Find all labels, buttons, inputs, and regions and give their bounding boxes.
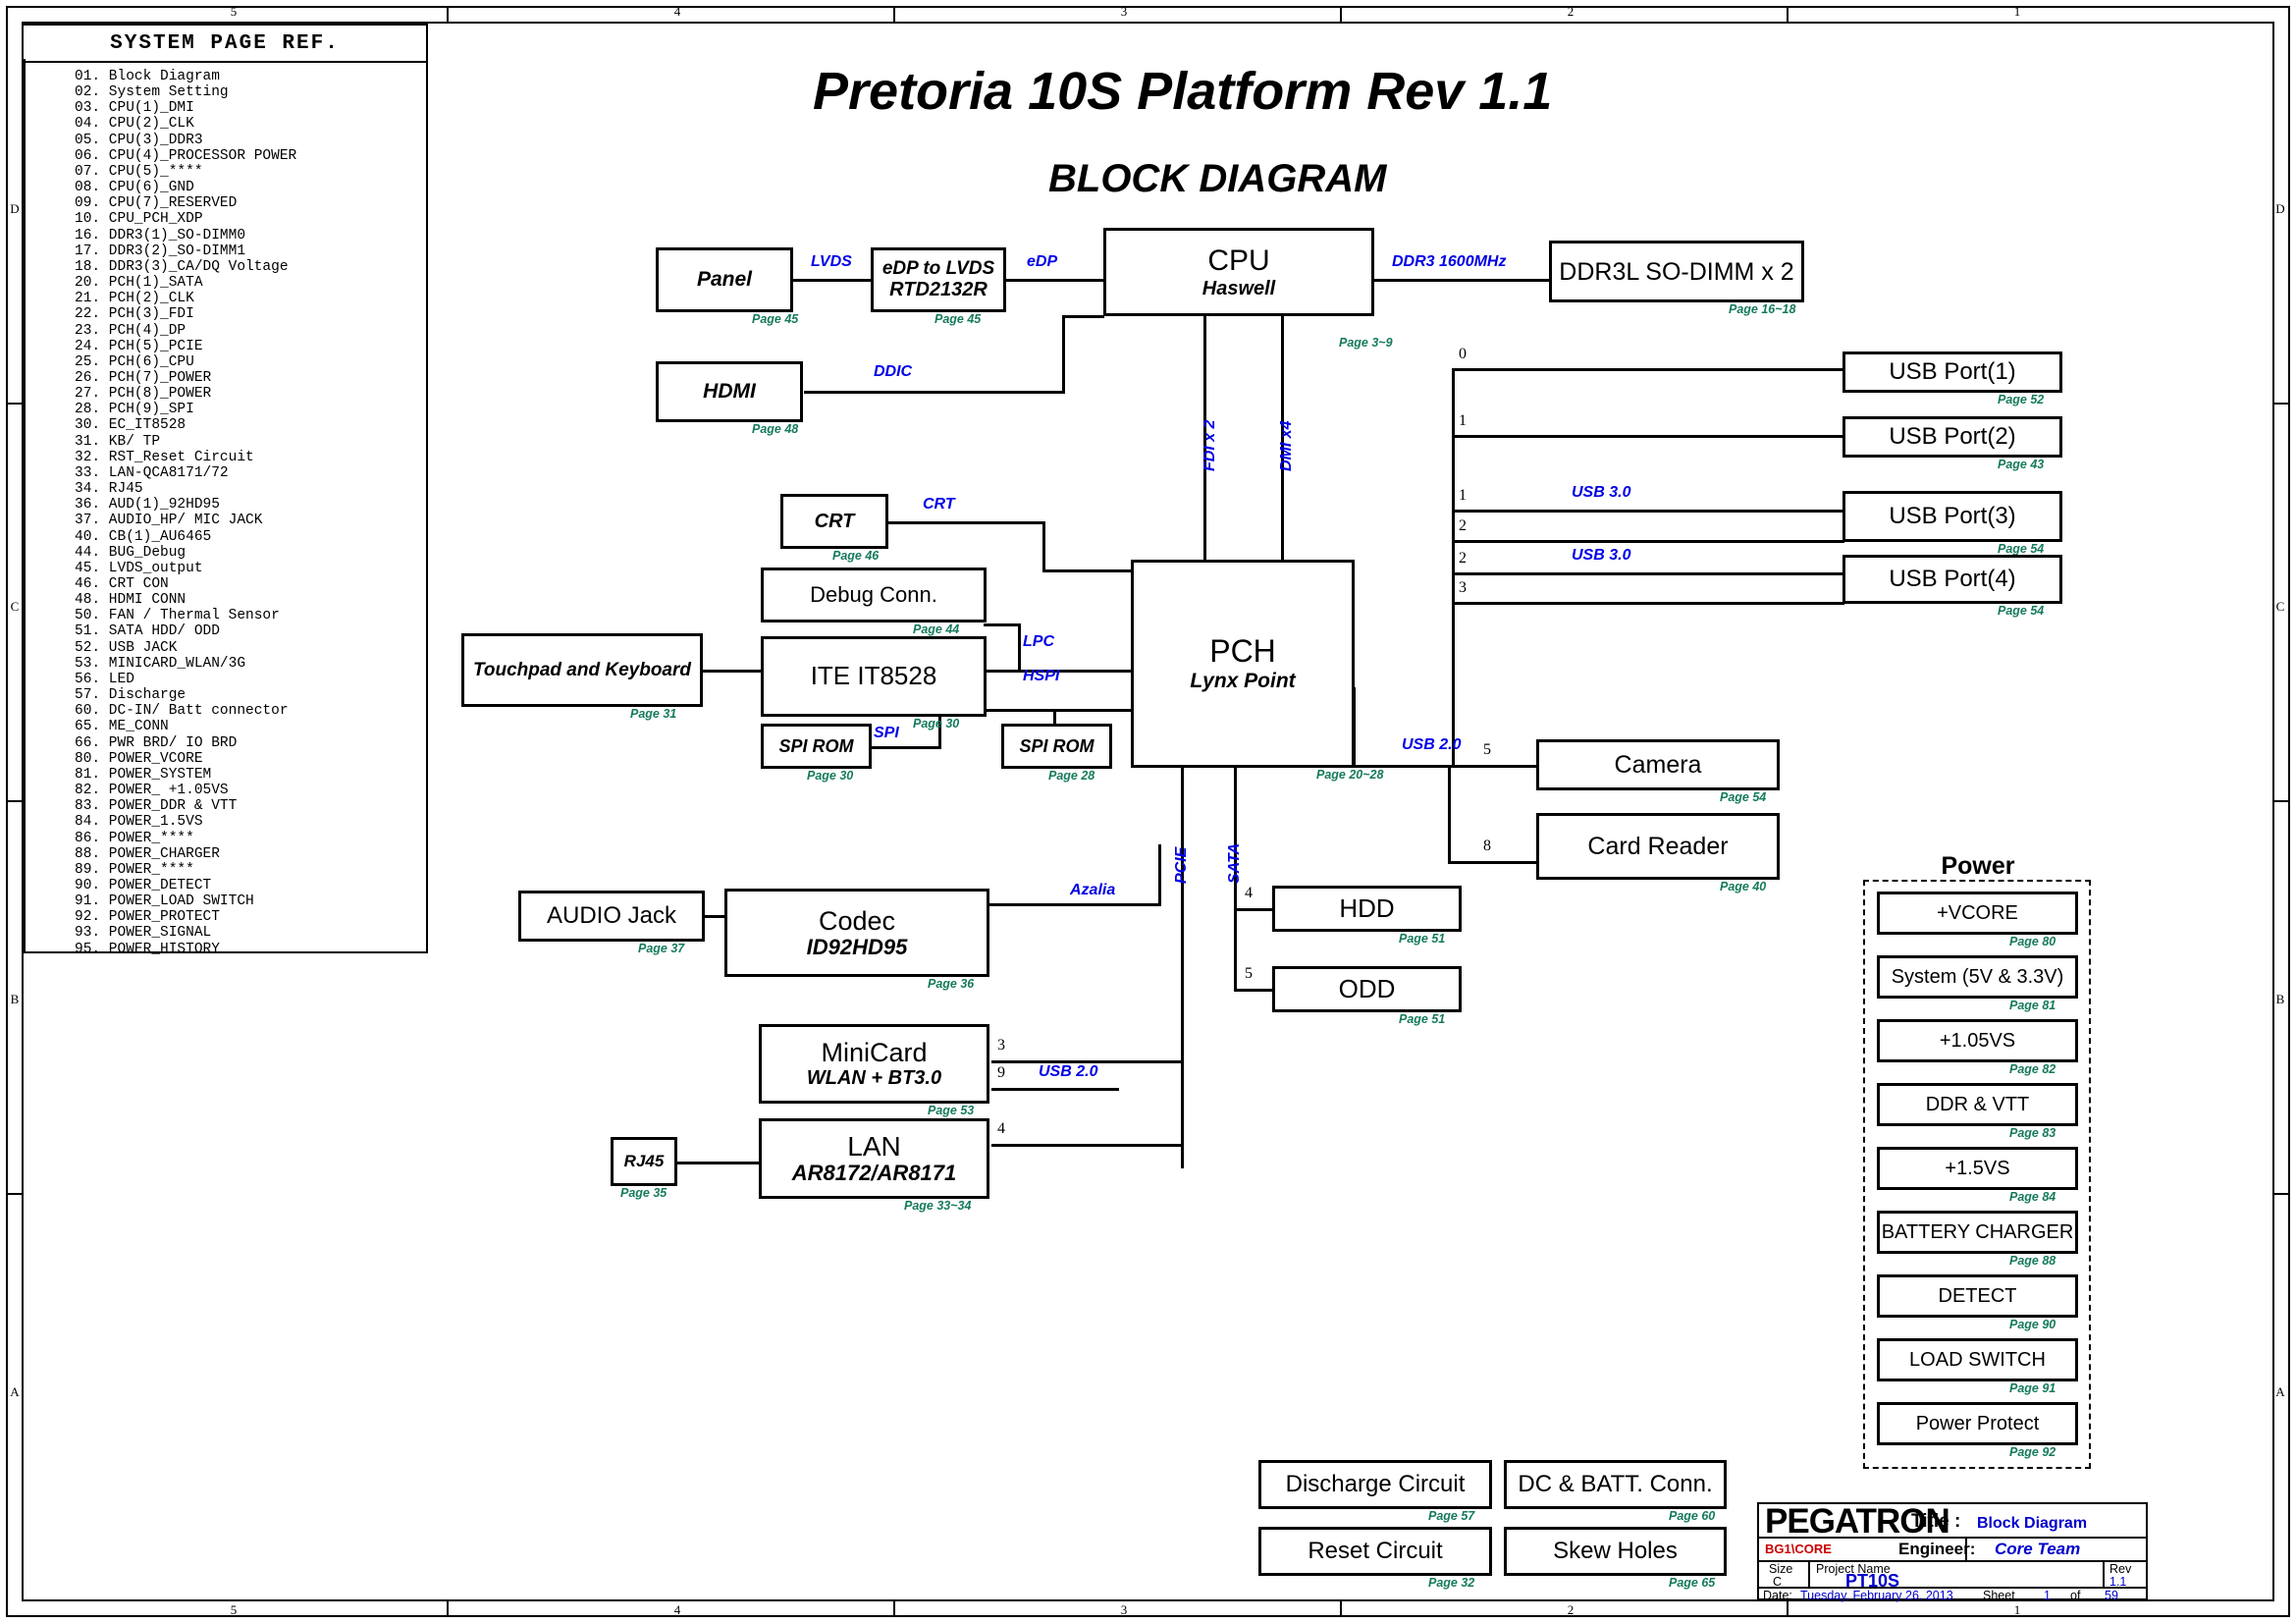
block-usb-port-1-page: Page 52	[1998, 393, 2044, 406]
wire-pcie-lan	[991, 1144, 1184, 1147]
block-crt[interactable]: CRT	[780, 494, 888, 549]
system-page-ref-item[interactable]: 84. POWER_1.5VS	[75, 814, 428, 830]
block-edp-to-lvds-page: Page 45	[934, 312, 981, 326]
system-page-ref-item[interactable]: 26. PCH(7)_POWER	[75, 370, 428, 386]
system-page-ref-item[interactable]: 20. PCH(1)_SATA	[75, 275, 428, 291]
zone-col-bottom-5: 5	[224, 1602, 243, 1618]
block-usb-port-1[interactable]: USB Port(1)	[1842, 352, 2062, 393]
system-page-ref-item[interactable]: 24. PCH(5)_PCIE	[75, 339, 428, 354]
signal-edp: eDP	[1027, 253, 1057, 271]
system-page-ref-heading-text: SYSTEM PAGE REF.	[110, 32, 340, 55]
block-dc-batt-conn-label: DC & BATT. Conn.	[1518, 1472, 1712, 1498]
power-rail-page: Page 82	[2009, 1062, 2056, 1076]
system-page-ref-item[interactable]: 08. CPU(6)_GND	[75, 180, 428, 195]
zone-row-right-D: D	[2273, 201, 2287, 217]
system-page-ref-item[interactable]: 52. USB JACK	[75, 640, 428, 656]
block-ddr3l-sodimm-page: Page 16~18	[1729, 302, 1795, 316]
wire-usb3a-h	[1452, 510, 1844, 513]
block-hdmi-page: Page 48	[752, 422, 798, 436]
size-label: Size	[1769, 1562, 1792, 1576]
block-hdd[interactable]: HDD	[1272, 886, 1462, 932]
wire-usb1-h	[1452, 368, 1844, 371]
block-lan-label: LAN	[847, 1131, 900, 1162]
power-rail-page: Page 92	[2009, 1445, 2056, 1459]
system-page-ref-item[interactable]: 82. POWER_ +1.05VS	[75, 783, 428, 798]
index-panel-left-rule	[24, 59, 26, 951]
system-page-ref-item[interactable]: 18. DDR3(3)_CA/DQ Voltage	[75, 259, 428, 275]
port-number-lan: 4	[997, 1120, 1005, 1138]
system-page-ref-item[interactable]: 34. RJ45	[75, 481, 428, 497]
port-number-usb3-b: 2	[1459, 517, 1467, 535]
system-page-ref-item[interactable]: 33. LAN-QCA8171/72	[75, 465, 428, 481]
block-usb-port-2[interactable]: USB Port(2)	[1842, 416, 2062, 458]
block-spi-rom-ec-page: Page 30	[807, 769, 853, 783]
zone-row-left-B: B	[8, 992, 22, 1007]
block-skew-holes[interactable]: Skew Holes	[1504, 1527, 1727, 1576]
index-panel-bottom-rule	[24, 951, 426, 953]
page-subtitle: BLOCK DIAGRAM	[1048, 157, 1386, 201]
zone-col-bottom-2: 2	[1561, 1602, 1580, 1618]
block-odd-page: Page 51	[1399, 1012, 1445, 1026]
system-page-ref-item[interactable]: 44. BUG_Debug	[75, 545, 428, 561]
block-debug-conn[interactable]: Debug Conn.	[761, 568, 987, 622]
block-audio-jack-page: Page 37	[638, 942, 684, 955]
zone-row-left-C: C	[8, 599, 22, 615]
system-page-ref-item[interactable]: 40. CB(1)_AU6465	[75, 529, 428, 545]
port-number-usb4-b: 3	[1459, 579, 1467, 597]
signal-crt: CRT	[923, 496, 955, 514]
wire-hdmi-to-cpu	[1062, 315, 1104, 318]
block-rj45-label: RJ45	[624, 1152, 665, 1170]
block-odd[interactable]: ODD	[1272, 966, 1462, 1012]
block-discharge-circuit[interactable]: Discharge Circuit	[1258, 1460, 1492, 1509]
block-ddr3l-sodimm-label: DDR3L SO-DIMM x 2	[1559, 258, 1793, 286]
system-page-ref-item[interactable]: 45. LVDS_output	[75, 561, 428, 576]
port-number-usb2: 1	[1459, 412, 1467, 430]
system-page-ref-item[interactable]: 89. POWER_****	[75, 862, 428, 878]
block-card-reader-label: Card Reader	[1587, 833, 1728, 860]
frame-tick	[893, 1601, 895, 1617]
system-page-ref-item[interactable]: 27. PCH(8)_POWER	[75, 386, 428, 402]
block-card-reader[interactable]: Card Reader	[1536, 813, 1780, 880]
frame-tick	[2274, 403, 2290, 405]
signal-hspi: HSPI	[1023, 668, 1059, 685]
wire-panel-to-edp	[792, 279, 873, 282]
wire-crt-h	[867, 521, 1045, 524]
port-number-usb3-a: 1	[1459, 487, 1467, 505]
date-value: Tuesday, February 26, 2013	[1800, 1589, 1953, 1602]
system-page-ref-heading: SYSTEM PAGE REF.	[24, 24, 426, 63]
block-touchpad-keyboard[interactable]: Touchpad and Keyboard	[461, 633, 703, 707]
wire-azalia-v	[1158, 844, 1161, 906]
system-page-ref-item[interactable]: 32. RST_Reset Circuit	[75, 450, 428, 465]
wire-usb2-h	[1452, 435, 1844, 438]
wire-hdmi-h	[804, 391, 1065, 394]
block-dc-batt-conn[interactable]: DC & BATT. Conn.	[1504, 1460, 1727, 1509]
block-cpu-codename: Haswell	[1202, 278, 1275, 299]
block-reset-circuit-label: Reset Circuit	[1308, 1539, 1442, 1565]
system-page-ref-item[interactable]: 02. System Setting	[75, 84, 428, 100]
system-page-ref-item[interactable]: 16. DDR3(1)_SO-DIMM0	[75, 228, 428, 243]
block-panel-page: Page 45	[752, 312, 798, 326]
power-rail-page: Page 83	[2009, 1126, 2056, 1140]
wire-cpu-to-sodimm	[1373, 279, 1551, 282]
zone-col-top-3: 3	[1114, 4, 1134, 20]
block-audio-jack[interactable]: AUDIO Jack	[518, 891, 705, 942]
wire-cardreader	[1448, 861, 1536, 864]
wire-sata-hdd	[1234, 908, 1273, 911]
system-page-ref-item[interactable]: 04. CPU(2)_CLK	[75, 116, 428, 132]
signal-ddr3: DDR3 1600MHz	[1392, 253, 1506, 271]
signal-usb20-pch: USB 2.0	[1402, 736, 1461, 754]
block-touchpad-keyboard-page: Page 31	[630, 707, 676, 721]
frame-tick	[1340, 1601, 1342, 1617]
zone-row-right-B: B	[2273, 992, 2287, 1007]
block-minicard-label: MiniCard	[821, 1038, 927, 1067]
port-number-odd: 5	[1245, 965, 1253, 983]
zone-row-right-A: A	[2273, 1384, 2287, 1400]
system-page-ref-item[interactable]: 06. CPU(4)_PROCESSOR POWER	[75, 148, 428, 164]
block-edp-to-lvds-label: eDP to LVDS	[882, 258, 994, 279]
block-ite-it8528-label: ITE IT8528	[811, 662, 937, 690]
power-rail-page: Page 81	[2009, 999, 2056, 1012]
block-usb-port-1-label: USB Port(1)	[1889, 359, 2015, 386]
wire-pcie-trunk	[1181, 765, 1184, 1168]
block-skew-holes-page: Page 65	[1669, 1576, 1715, 1590]
block-card-reader-page: Page 40	[1720, 880, 1766, 893]
system-page-ref-item[interactable]: 80. POWER_VCORE	[75, 751, 428, 767]
system-page-ref-item[interactable]: 28. PCH(9)_SPI	[75, 402, 428, 417]
power-rail-block[interactable]: DETECT	[1877, 1274, 2078, 1318]
power-rail-block[interactable]: System (5V & 3.3V)	[1877, 955, 2078, 999]
wire-usb4b-h	[1452, 602, 1844, 605]
block-spi-rom-pch-label: SPI ROM	[1019, 736, 1094, 756]
block-spi-rom-pch-page: Page 28	[1048, 769, 1095, 783]
block-rj45-page: Page 35	[620, 1186, 667, 1200]
power-rail-label: DETECT	[1939, 1285, 2017, 1307]
system-page-ref-item[interactable]: 60. DC-IN/ Batt connector	[75, 703, 428, 719]
block-codec-label: Codec	[819, 906, 895, 936]
block-panel-label: Panel	[697, 268, 752, 292]
port-number-minicard-a: 3	[997, 1037, 1005, 1055]
block-hdmi-label: HDMI	[703, 380, 756, 404]
system-page-ref-item[interactable]: 66. PWR BRD/ IO BRD	[75, 735, 428, 751]
size-value: C	[1773, 1575, 1782, 1589]
zone-row-right-C: C	[2273, 599, 2287, 615]
sheet-of-value: 59	[2105, 1589, 2118, 1602]
zone-row-left-D: D	[8, 201, 22, 217]
system-page-ref-item[interactable]: 88. POWER_CHARGER	[75, 846, 428, 862]
signal-sata: SATA	[1226, 843, 1244, 884]
block-ddr3l-sodimm[interactable]: DDR3L SO-DIMM x 2	[1549, 241, 1804, 302]
block-crt-page: Page 46	[832, 549, 879, 563]
wire-minicard-usb	[991, 1088, 1119, 1091]
block-reset-circuit-page: Page 32	[1428, 1576, 1474, 1590]
frame-tick	[447, 6, 449, 22]
port-number-camera: 5	[1483, 741, 1491, 759]
block-hdd-page: Page 51	[1399, 932, 1445, 946]
zone-col-bottom-3: 3	[1114, 1602, 1134, 1618]
power-rail-page: Page 91	[2009, 1381, 2056, 1395]
signal-azalia: Azalia	[1070, 882, 1115, 899]
block-codec-page: Page 36	[928, 977, 974, 991]
frame-tick	[2274, 1193, 2290, 1195]
system-page-ref-panel: SYSTEM PAGE REF. 01. Block Diagram02. Sy…	[24, 24, 426, 951]
block-panel[interactable]: Panel	[656, 247, 793, 312]
wire-hdmi-v	[1062, 315, 1065, 394]
block-ite-it8528-page: Page 30	[913, 717, 959, 730]
block-usb-port-3-label: USB Port(3)	[1889, 504, 2015, 530]
wire-touchpad-to-ite	[700, 670, 764, 673]
wire-usb20-branch	[1448, 765, 1451, 863]
block-lan[interactable]: LAN AR8172/AR8171	[759, 1118, 989, 1199]
system-page-ref-item[interactable]: 86. POWER_****	[75, 831, 428, 846]
block-crt-label: CRT	[815, 511, 855, 532]
block-pch-label: PCH	[1209, 634, 1276, 670]
power-rail-page: Page 80	[2009, 935, 2056, 948]
sheet-of-label: of	[2070, 1589, 2080, 1602]
system-page-ref-item[interactable]: 92. POWER_PROTECT	[75, 909, 428, 925]
zone-col-top-2: 2	[1561, 4, 1580, 20]
signal-fdi: FDI x 2	[1201, 420, 1219, 471]
wire-usb3b-h	[1452, 540, 1844, 543]
wire-camera	[1448, 765, 1536, 768]
power-rail-page: Page 90	[2009, 1318, 2056, 1331]
power-rail-page: Page 88	[2009, 1254, 2056, 1268]
system-page-ref-item[interactable]: 07. CPU(5)_****	[75, 164, 428, 180]
engineer-label: Engineer:	[1898, 1540, 1975, 1559]
block-camera-label: Camera	[1615, 751, 1702, 779]
page-title: Pretoria 10S Platform Rev 1.1	[813, 61, 1552, 122]
frame-tick	[1340, 6, 1342, 22]
index-panel-right-rule	[426, 24, 428, 953]
block-usb-port-4-label: USB Port(4)	[1889, 567, 2015, 593]
power-rail-label: System (5V & 3.3V)	[1892, 966, 2064, 988]
frame-tick	[2274, 800, 2290, 802]
block-pch[interactable]: PCH Lynx Point	[1131, 560, 1355, 768]
zone-col-bottom-1: 1	[2007, 1602, 2027, 1618]
system-page-ref-item[interactable]: 83. POWER_DDR & VTT	[75, 798, 428, 814]
zone-row-left-A: A	[8, 1384, 22, 1400]
block-rj45[interactable]: RJ45	[611, 1137, 677, 1186]
block-discharge-circuit-label: Discharge Circuit	[1286, 1472, 1466, 1498]
block-camera[interactable]: Camera	[1536, 739, 1780, 790]
block-reset-circuit[interactable]: Reset Circuit	[1258, 1527, 1492, 1576]
system-page-ref-item[interactable]: 30. EC_IT8528	[75, 417, 428, 433]
block-audio-jack-label: AUDIO Jack	[547, 903, 676, 930]
power-rail-block[interactable]: DDR & VTT	[1877, 1083, 2078, 1126]
system-page-ref-item[interactable]: 95. POWER_HISTORY	[75, 942, 428, 957]
port-number-minicard-b: 9	[997, 1064, 1005, 1082]
port-number-usb1: 0	[1459, 346, 1467, 363]
block-ite-it8528[interactable]: ITE IT8528	[761, 636, 987, 717]
block-minicard-page: Page 53	[928, 1104, 974, 1117]
signal-lpc: LPC	[1023, 633, 1054, 651]
frame-tick	[6, 403, 22, 405]
wire-spirom-left-h	[870, 746, 941, 749]
block-lan-part: AR8172/AR8171	[792, 1162, 957, 1186]
block-pch-page: Page 20~28	[1316, 768, 1383, 782]
block-spi-rom-pch[interactable]: SPI ROM	[1001, 724, 1112, 769]
power-rail-label: Power Protect	[1916, 1413, 2040, 1434]
power-rail-block[interactable]: BATTERY CHARGER	[1877, 1211, 2078, 1254]
title-block-rule	[1808, 1560, 1810, 1587]
system-page-ref-item[interactable]: 22. PCH(3)_FDI	[75, 306, 428, 322]
block-camera-page: Page 54	[1720, 790, 1766, 804]
system-page-ref-item[interactable]: 01. Block Diagram	[75, 69, 428, 84]
system-page-ref-item[interactable]: 21. PCH(2)_CLK	[75, 291, 428, 306]
signal-spi: SPI	[874, 725, 899, 742]
block-usb-port-2-page: Page 43	[1998, 458, 2044, 471]
block-edp-to-lvds-part: RTD2132R	[889, 279, 988, 300]
system-page-ref-item[interactable]: 50. FAN / Thermal Sensor	[75, 608, 428, 623]
wire-rj45-to-lan	[676, 1162, 760, 1164]
system-page-ref-item[interactable]: 91. POWER_LOAD SWITCH	[75, 893, 428, 909]
block-discharge-circuit-page: Page 57	[1428, 1509, 1474, 1523]
block-codec-part: ID92HD95	[807, 936, 908, 960]
system-page-ref-item[interactable]: 81. POWER_SYSTEM	[75, 767, 428, 783]
signal-usb30-b: USB 3.0	[1572, 547, 1630, 565]
zone-col-bottom-4: 4	[667, 1602, 687, 1618]
power-rail-label: +VCORE	[1937, 902, 2018, 924]
power-rail-label: DDR & VTT	[1926, 1094, 2030, 1115]
power-rail-label: BATTERY CHARGER	[1882, 1221, 2074, 1243]
power-rail-block[interactable]: LOAD SWITCH	[1877, 1338, 2078, 1381]
block-cpu-label: CPU	[1207, 244, 1269, 278]
system-page-ref-item[interactable]: 56. LED	[75, 672, 428, 687]
block-spi-rom-ec-label: SPI ROM	[778, 736, 853, 756]
power-rail-label: +1.05VS	[1940, 1030, 2015, 1052]
rev-value: 1.1	[2109, 1575, 2126, 1589]
wire-sata-odd	[1234, 989, 1273, 992]
block-minicard[interactable]: MiniCard WLAN + BT3.0	[759, 1024, 989, 1104]
wire-debug-v	[1018, 623, 1021, 671]
wire-edp-to-cpu	[1005, 279, 1104, 282]
power-rail-label: +1.5VS	[1945, 1158, 2009, 1179]
zone-col-top-1: 1	[2007, 4, 2027, 20]
sheet-value: 1	[2044, 1589, 2051, 1602]
zone-col-top-4: 4	[667, 4, 687, 20]
signal-dmi: DMI x4	[1278, 420, 1296, 471]
title-value: Block Diagram	[1977, 1515, 2087, 1533]
business-group-label: BG1\CORE	[1765, 1542, 1832, 1556]
zone-col-top-5: 5	[224, 4, 243, 20]
system-page-ref-item[interactable]: 03. CPU(1)_DMI	[75, 100, 428, 116]
system-page-ref-item[interactable]: 23. PCH(4)_DP	[75, 323, 428, 339]
block-odd-label: ODD	[1339, 975, 1396, 1003]
frame-tick	[1787, 6, 1789, 22]
wire-azalia-h	[988, 903, 1160, 906]
block-lan-page: Page 33~34	[904, 1199, 971, 1213]
system-page-ref-item[interactable]: 48. HDMI CONN	[75, 592, 428, 608]
system-page-ref-item[interactable]: 65. ME_CONN	[75, 719, 428, 734]
block-usb-port-4[interactable]: USB Port(4)	[1842, 555, 2062, 604]
block-usb-port-2-label: USB Port(2)	[1889, 424, 2015, 451]
block-debug-conn-page: Page 44	[913, 622, 959, 636]
system-page-ref-list: 01. Block Diagram02. System Setting03. C…	[75, 69, 428, 957]
system-page-ref-item[interactable]: 17. DDR3(2)_SO-DIMM1	[75, 243, 428, 259]
system-page-ref-item[interactable]: 09. CPU(7)_RESERVED	[75, 195, 428, 211]
title-label: Title :	[1911, 1511, 1960, 1533]
block-debug-conn-label: Debug Conn.	[810, 583, 937, 608]
frame-tick	[6, 1193, 22, 1195]
system-page-ref-item[interactable]: 31. KB/ TP	[75, 434, 428, 450]
system-page-ref-item[interactable]: 53. MINICARD_WLAN/3G	[75, 656, 428, 672]
frame-tick	[6, 800, 22, 802]
schematic-sheet: 5 4 3 2 1 5 4 3 2 1 D C B A D C B A SYST…	[0, 0, 2296, 1623]
power-section-title: Power	[1865, 852, 2091, 881]
wire-crt-v	[1042, 521, 1045, 572]
power-rail-block[interactable]: +1.05VS	[1877, 1019, 2078, 1062]
power-rail-page: Page 84	[2009, 1190, 2056, 1204]
wire-usb4a-h	[1452, 572, 1844, 575]
wire-crt-to-pch	[1042, 569, 1131, 572]
block-dc-batt-conn-page: Page 60	[1669, 1509, 1715, 1523]
system-page-ref-item[interactable]: 93. POWER_SIGNAL	[75, 925, 428, 941]
wire-hspi	[984, 709, 1131, 712]
block-cpu[interactable]: CPU Haswell	[1103, 228, 1374, 316]
block-hdd-label: HDD	[1339, 894, 1394, 923]
system-page-ref-item[interactable]: 37. AUDIO_HP/ MIC JACK	[75, 513, 428, 528]
frame-tick	[893, 6, 895, 22]
signal-lvds: LVDS	[811, 253, 852, 271]
block-touchpad-keyboard-label: Touchpad and Keyboard	[473, 660, 691, 680]
system-page-ref-item[interactable]: 36. AUD(1)_92HD95	[75, 497, 428, 513]
block-skew-holes-label: Skew Holes	[1553, 1539, 1678, 1565]
port-number-hdd: 4	[1245, 885, 1253, 902]
title-block-rule	[2103, 1560, 2105, 1587]
system-page-ref-item[interactable]: 05. CPU(3)_DDR3	[75, 133, 428, 148]
title-block: PEGATRON Title : Block Diagram BG1\CORE …	[1757, 1502, 2148, 1600]
date-label: Date:	[1763, 1589, 1792, 1602]
block-minicard-spec: WLAN + BT3.0	[807, 1067, 941, 1089]
block-spi-rom-ec[interactable]: SPI ROM	[761, 724, 872, 769]
block-usb-port-3[interactable]: USB Port(3)	[1842, 491, 2062, 542]
system-page-ref-item[interactable]: 90. POWER_DETECT	[75, 878, 428, 893]
system-page-ref-item[interactable]: 25. PCH(6)_CPU	[75, 354, 428, 370]
wire-usb-trunk	[1452, 368, 1455, 765]
block-usb-port-3-page: Page 54	[1998, 542, 2044, 556]
block-edp-to-lvds[interactable]: eDP to LVDS RTD2132R	[871, 247, 1006, 312]
rev-label: Rev	[2109, 1562, 2131, 1576]
frame-tick	[447, 1601, 449, 1617]
power-rail-block[interactable]: +1.5VS	[1877, 1147, 2078, 1190]
signal-pcie: PCIE	[1173, 847, 1191, 884]
power-rail-block[interactable]: +VCORE	[1877, 892, 2078, 935]
block-pch-codename: Lynx Point	[1190, 670, 1295, 693]
port-number-usb4-a: 2	[1459, 550, 1467, 568]
power-rail-block[interactable]: Power Protect	[1877, 1402, 2078, 1445]
signal-usb20-minicard: USB 2.0	[1039, 1063, 1097, 1081]
wire-debug-h	[984, 623, 1021, 626]
system-page-ref-item[interactable]: 46. CRT CON	[75, 576, 428, 592]
signal-ddic: DDIC	[874, 363, 912, 381]
power-rail-label: LOAD SWITCH	[1909, 1349, 2046, 1371]
system-page-ref-item[interactable]: 57. Discharge	[75, 687, 428, 703]
port-number-cardreader: 8	[1483, 838, 1491, 855]
block-hdmi[interactable]: HDMI	[656, 361, 803, 422]
frame-tick	[1787, 1601, 1789, 1617]
sheet-label: Sheet	[1983, 1589, 2015, 1602]
block-usb-port-4-page: Page 54	[1998, 604, 2044, 618]
system-page-ref-item[interactable]: 10. CPU_PCH_XDP	[75, 211, 428, 227]
block-cpu-page: Page 3~9	[1339, 336, 1393, 350]
block-codec[interactable]: Codec ID92HD95	[724, 889, 989, 977]
engineer-value: Core Team	[1995, 1540, 2080, 1559]
signal-usb30-a: USB 3.0	[1572, 484, 1630, 502]
system-page-ref-item[interactable]: 51. SATA HDD/ ODD	[75, 623, 428, 639]
